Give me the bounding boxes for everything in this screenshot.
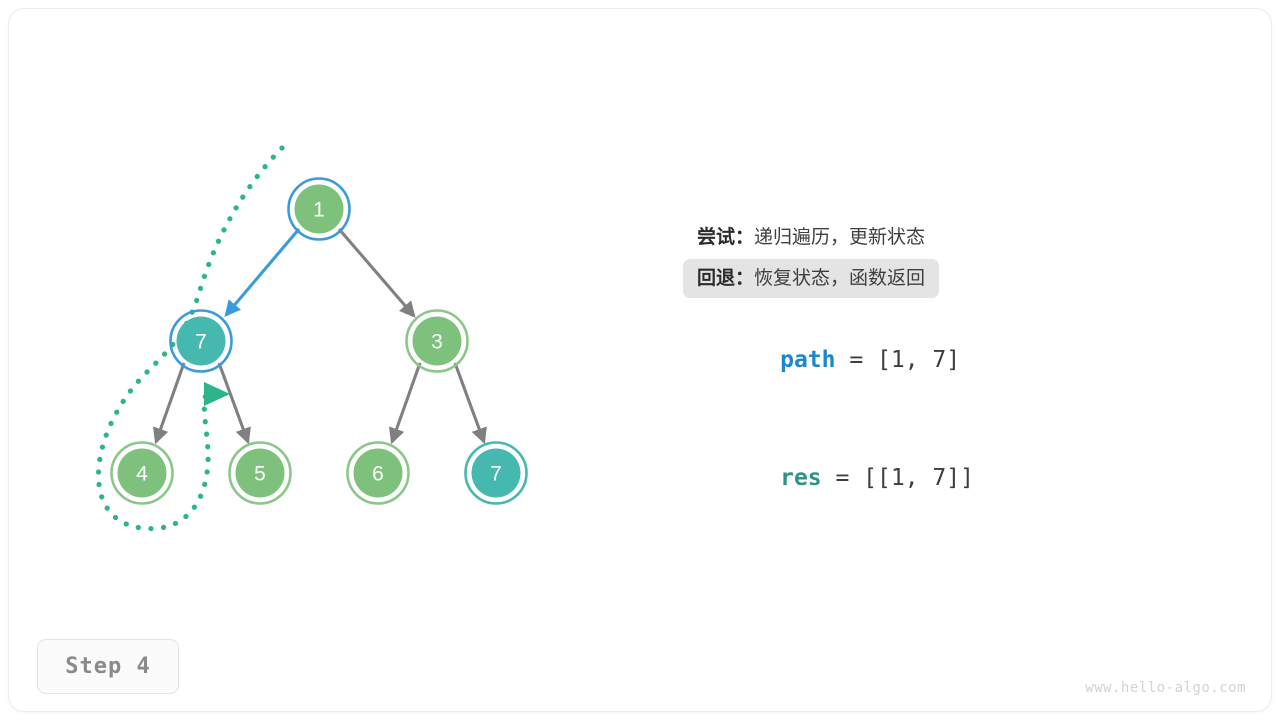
node-5-label: 5: [254, 463, 266, 486]
tree-node-5[interactable]: 5: [230, 443, 291, 504]
edge-7-5: [219, 363, 248, 442]
res-variable-value: = [[1, 7]]: [822, 465, 974, 491]
watermark: www.hello-algo.com: [1085, 680, 1246, 696]
choice-backtrack-text: 恢复状态，函数返回: [754, 268, 925, 289]
choice-backtrack-row: 回退：恢复状态，函数返回: [683, 259, 939, 298]
path-state-line: path = [1, 7]: [697, 326, 960, 395]
info-panel: 尝试：递归遍历，更新状态 回退：恢复状态，函数返回 path = [1, 7] …: [697, 218, 1127, 300]
node-1-label: 1: [313, 199, 325, 222]
edge-1-7: [226, 229, 299, 315]
tree-node-1[interactable]: 1: [289, 179, 350, 240]
choice-try-text: 递归遍历，更新状态: [754, 227, 925, 248]
step-badge: Step 4: [37, 639, 179, 694]
tree-node-7-right[interactable]: 7: [466, 443, 527, 504]
node-6-label: 6: [372, 463, 384, 486]
screenshot-stage: 1 7 3 4 5 6 7: [0, 0, 1280, 720]
node-7-right-label: 7: [490, 463, 502, 486]
binary-tree-diagram: 1 7 3 4 5 6 7: [60, 110, 620, 550]
tree-node-7-left[interactable]: 7: [171, 311, 232, 372]
edge-7-4: [156, 363, 184, 442]
tree-node-4[interactable]: 4: [112, 443, 173, 504]
choice-try-row: 尝试：递归遍历，更新状态: [683, 218, 939, 257]
tree-node-3[interactable]: 3: [407, 311, 468, 372]
node-3-label: 3: [431, 331, 443, 354]
choice-try-label: 尝试：: [697, 227, 754, 248]
node-4-label: 4: [136, 463, 148, 486]
path-variable-value: = [1, 7]: [835, 347, 960, 373]
node-7-left-label: 7: [195, 331, 207, 354]
path-variable-name: path: [780, 347, 835, 373]
edge-3-6: [392, 363, 420, 442]
res-state-line: res = [[1, 7]]: [697, 444, 974, 513]
tree-node-6[interactable]: 6: [348, 443, 409, 504]
res-variable-name: res: [780, 465, 822, 491]
edge-1-3: [339, 229, 414, 316]
choice-backtrack-label: 回退：: [697, 268, 754, 289]
edge-3-7: [455, 363, 484, 442]
step-badge-label: Step 4: [65, 654, 150, 679]
